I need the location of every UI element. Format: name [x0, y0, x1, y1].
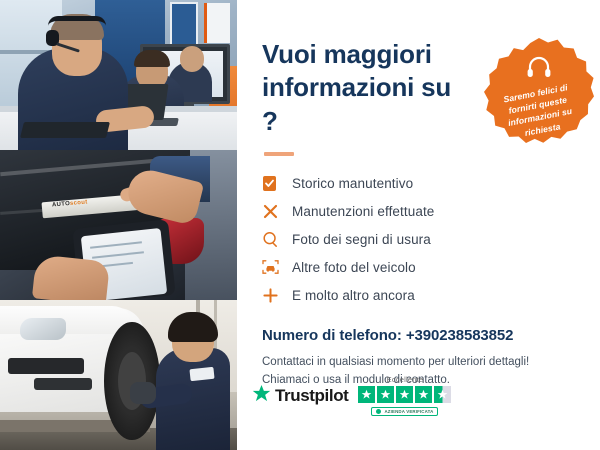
- feature-item-storico-manutentivo: Storico manutentivo: [262, 170, 578, 197]
- trustpilot-rating-label: Eccellente: [387, 375, 424, 384]
- plus-icon: [262, 287, 284, 304]
- feature-label: Manutenzioni effettuate: [292, 204, 434, 219]
- page-title: Vuoi maggiori informazioni su ?: [262, 38, 467, 138]
- car-scan-icon: [262, 259, 284, 275]
- feature-item-foto-segni-usura: Foto dei segni di usura: [262, 226, 578, 253]
- vehicle-inspection-photo: AUTOscout: [0, 150, 237, 300]
- trustpilot-name: Trustpilot: [275, 386, 348, 406]
- trustpilot-rating[interactable]: Trustpilot Eccellente: [252, 375, 451, 416]
- magnifier-icon: [262, 231, 284, 248]
- verified-business-badge: AZIENDA VERIFICATA: [371, 407, 438, 416]
- feature-label: Storico manutentivo: [292, 176, 413, 191]
- feature-item-manutenzioni-effettuate: Manutenzioni effettuate: [262, 198, 578, 225]
- trustpilot-score-block: Eccellente AZIEND: [358, 375, 451, 416]
- feature-item-molto-altro: E molto altro ancora: [262, 282, 578, 309]
- verified-label: AZIENDA VERIFICATA: [384, 409, 433, 414]
- star-half: [434, 386, 451, 403]
- star-filled: [377, 386, 394, 403]
- feature-item-altre-foto-veicolo: Altre foto del veicolo: [262, 254, 578, 281]
- mechanic-workshop-photo: [0, 300, 237, 450]
- verified-check-icon: [376, 409, 381, 414]
- feature-label: Foto dei segni di usura: [292, 232, 431, 247]
- clipboard-check-icon: [262, 175, 284, 192]
- feature-label: Altre foto del veicolo: [292, 260, 416, 275]
- star-filled: [396, 386, 413, 403]
- heading-line-2: informazioni su ?: [262, 72, 451, 135]
- title-underline-divider: [264, 152, 294, 156]
- star-filled: [415, 386, 432, 403]
- trustpilot-logo: Trustpilot: [252, 384, 348, 408]
- feature-list: Storico manutentivo Manutenzioni effettu…: [262, 170, 578, 309]
- feature-label: E molto altro ancora: [292, 288, 415, 303]
- heading-line-1: Vuoi maggiori: [262, 39, 432, 69]
- phone-number-text[interactable]: Numero di telefono: +390238583852: [262, 327, 578, 344]
- promo-card: AUTOscout Vuoi maggiori informazioni su …: [0, 0, 600, 450]
- headset-icon: [526, 55, 552, 84]
- contact-line-1: Contattaci in qualsiasi momento per ulte…: [262, 356, 529, 368]
- trustpilot-star-icon: [252, 384, 271, 408]
- tools-cross-icon: [262, 203, 284, 220]
- call-center-agents-photo: [0, 0, 237, 150]
- trustpilot-stars: [358, 386, 451, 403]
- star-filled: [358, 386, 375, 403]
- request-info-badge: Saremo felici di fornirti queste informa…: [484, 38, 594, 148]
- photo-column: AUTOscout: [0, 0, 237, 450]
